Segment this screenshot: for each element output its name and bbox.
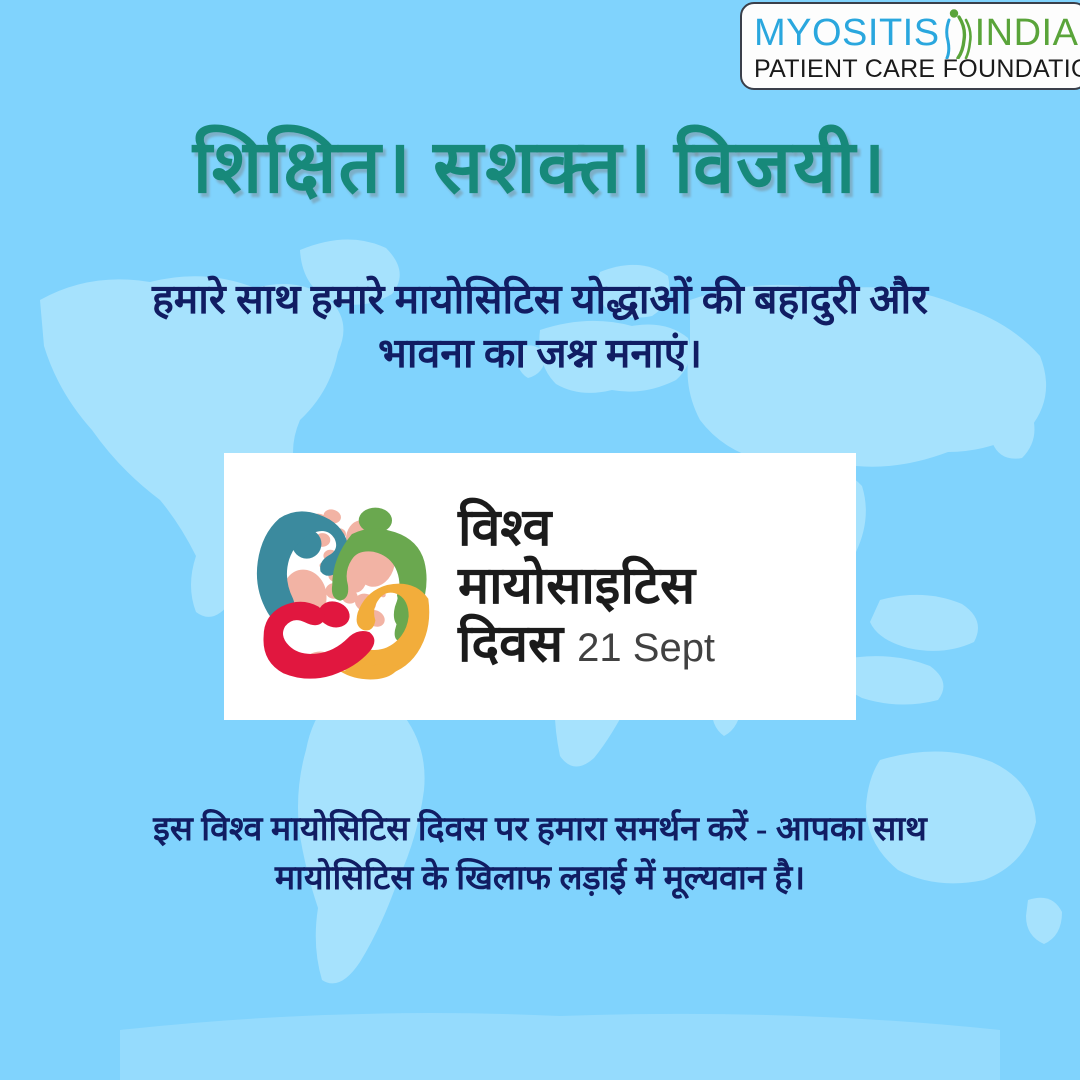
brand-tagline: PATIENT CARE FOUNDATION — [754, 57, 1076, 82]
wmd-line-3: दिवस — [458, 619, 563, 671]
page-subtitle: हमारे साथ हमारे मायोसिटिस योद्धाओं की बह… — [110, 272, 970, 380]
world-myositis-day-text: विश्व मायोसाइटिस दिवस 21 Sept — [458, 503, 715, 671]
wmd-date: 21 Sept — [577, 626, 715, 671]
wmd-line-2: मायोसाइटिस — [458, 561, 715, 613]
page-headline: शिक्षित। सशक्त। विजयी। — [0, 128, 1080, 209]
wmd-line-1: विश्व — [458, 503, 715, 555]
brand-logo-card: MYOSITIS INDIA PATIENT CARE FOUNDATION — [740, 2, 1080, 90]
human-figure-icon — [939, 7, 977, 59]
footer-paragraph: इस विश्व मायोसिटिस दिवस पर हमारा समर्थन … — [110, 805, 970, 904]
world-myositis-day-card: विश्व मायोसाइटिस दिवस 21 Sept — [224, 453, 856, 720]
poster-canvas: MYOSITIS INDIA PATIENT CARE FOUNDATION श… — [0, 0, 1080, 1080]
four-people-circle-emblem-icon — [246, 489, 442, 685]
brand-name-myositis: MYOSITIS — [754, 14, 940, 52]
brand-logo-wordmark-row: MYOSITIS INDIA — [754, 10, 1076, 56]
wmd-line-3-row: दिवस 21 Sept — [458, 619, 715, 671]
brand-name-india: INDIA — [975, 14, 1079, 52]
